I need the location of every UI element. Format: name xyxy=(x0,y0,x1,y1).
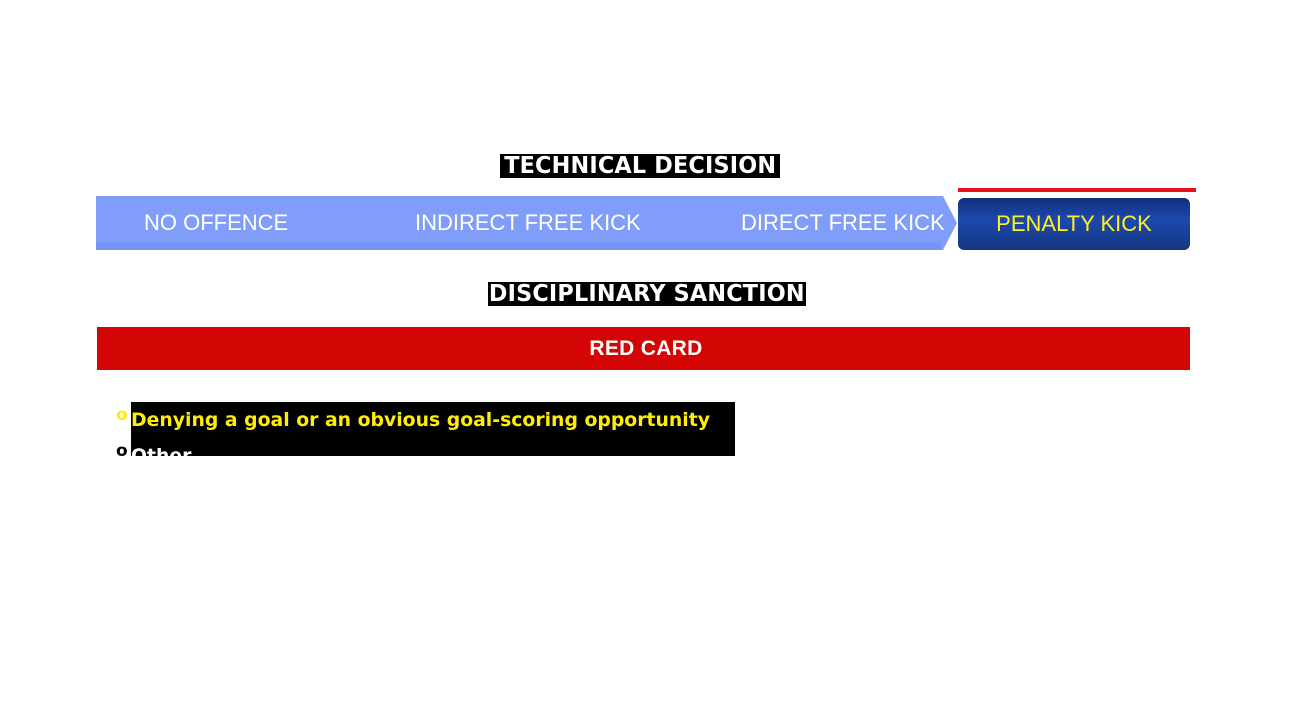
reason-item-denying-goal[interactable]: o Denying a goal or an obvious goal-scor… xyxy=(131,402,735,438)
reason-list-block: o Denying a goal or an obvious goal-scor… xyxy=(131,402,735,456)
reason-item-denying-goal-label: Denying a goal or an obvious goal-scorin… xyxy=(131,409,710,431)
reason-item-other-label: Other xyxy=(131,445,191,456)
scale-option-no-offence-label: NO OFFENCE xyxy=(144,210,288,236)
selected-option-rule xyxy=(958,188,1196,192)
technical-decision-heading-text: TECHNICAL DECISION xyxy=(504,154,776,178)
technical-decision-heading: TECHNICAL DECISION xyxy=(500,154,780,178)
scale-option-penalty-kick[interactable]: PENALTY KICK xyxy=(958,198,1190,250)
scale-option-indirect-free-kick-label: INDIRECT FREE KICK xyxy=(415,210,641,236)
scale-selected-wrapper: PENALTY KICK xyxy=(958,196,1190,251)
scale-option-direct-free-kick[interactable]: DIRECT FREE KICK xyxy=(741,196,945,250)
red-card-bar[interactable]: RED CARD xyxy=(97,327,1190,370)
technical-decision-scale: NO OFFENCE INDIRECT FREE KICK DIRECT FRE… xyxy=(96,196,1190,252)
reason-list: o Denying a goal or an obvious goal-scor… xyxy=(131,402,735,456)
scale-option-penalty-kick-label: PENALTY KICK xyxy=(996,211,1152,237)
reason-bullet-icon-1: o xyxy=(116,443,128,460)
disciplinary-sanction-heading-text: DISCIPLINARY SANCTION xyxy=(489,282,805,306)
reason-bullet-icon-0: o xyxy=(116,407,128,424)
red-card-label: RED CARD xyxy=(589,337,702,361)
scale-option-indirect-free-kick[interactable]: INDIRECT FREE KICK xyxy=(415,196,641,250)
disciplinary-sanction-heading: DISCIPLINARY SANCTION xyxy=(488,282,806,306)
scale-option-no-offence[interactable]: NO OFFENCE xyxy=(144,196,288,250)
scale-option-direct-free-kick-label: DIRECT FREE KICK xyxy=(741,210,945,236)
reason-item-other[interactable]: o Other xyxy=(131,438,735,456)
